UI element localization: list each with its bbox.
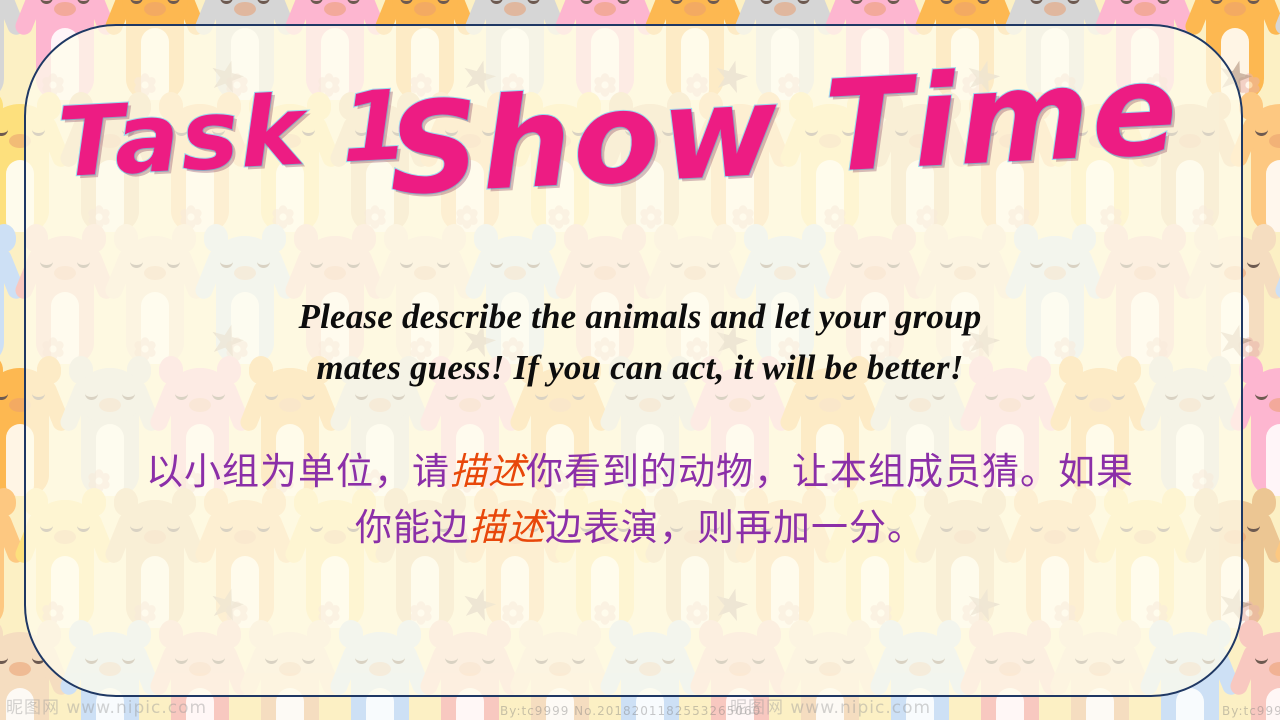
chinese-line-1-b: 你看到的动物，让本组成员猜。如果 bbox=[526, 450, 1134, 493]
english-line-1: Please describe the animals and let your… bbox=[150, 292, 1130, 343]
watermark-far-right: By:tc9999 bbox=[1222, 704, 1280, 718]
title-row: Task 1 Show Time bbox=[0, 58, 1280, 218]
chinese-line-2-b: 边表演，则再加一分。 bbox=[545, 506, 925, 549]
chinese-line-2: 你能边描述边表演，则再加一分。 bbox=[95, 500, 1185, 556]
chinese-highlight-1: 描述 bbox=[450, 450, 526, 493]
show-time-title: Show Time bbox=[385, 35, 1183, 223]
chinese-line-1: 以小组为单位，请描述你看到的动物，让本组成员猜。如果 bbox=[146, 450, 1134, 493]
chinese-highlight-2: 描述 bbox=[469, 506, 545, 549]
watermark-middle: By:tc9999 No.2018201182553265060 bbox=[500, 704, 761, 718]
chinese-line-1-a: 以小组为单位，请 bbox=[146, 450, 450, 493]
slide-canvas: Task 1 Show Time Please describe the ani… bbox=[0, 0, 1280, 720]
english-instructions: Please describe the animals and let your… bbox=[150, 292, 1130, 394]
task-title: Task 1 bbox=[55, 69, 412, 199]
english-line-2: mates guess! If you can act, it will be … bbox=[150, 343, 1130, 394]
chinese-line-2-a: 你能边 bbox=[355, 506, 469, 549]
chinese-instructions: 以小组为单位，请描述你看到的动物，让本组成员猜。如果 你能边描述边表演，则再加一… bbox=[95, 444, 1185, 555]
watermark-left: 昵图网 www.nipic.com bbox=[6, 693, 207, 718]
watermark-right: 昵图网 www.nipic.com bbox=[730, 693, 931, 718]
